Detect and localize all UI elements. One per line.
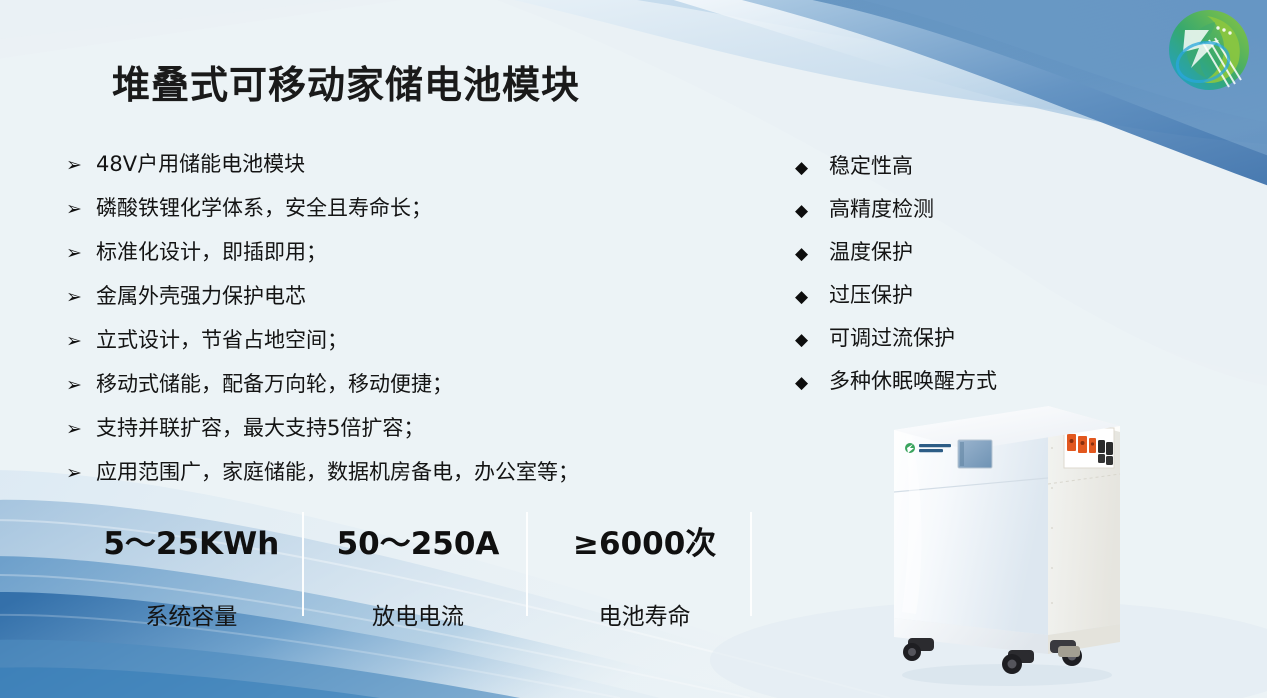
arrow-bullet-icon: ➢ <box>66 464 96 483</box>
list-item: ➢ 磷酸铁锂化学体系，安全且寿命长； <box>66 192 706 236</box>
right-feature-list: ◆ 稳定性高 ◆ 高精度检测 ◆ 温度保护 ◆ 过压保护 ◆ 可调过流保护 ◆ … <box>795 150 1095 408</box>
list-item: ➢ 支持并联扩容，最大支持5倍扩容； <box>66 412 706 456</box>
page-title: 堆叠式可移动家储电池模块 <box>112 54 580 109</box>
list-item-label: 磷酸铁锂化学体系，安全且寿命长； <box>96 192 432 222</box>
diamond-bullet-icon: ◆ <box>795 159 829 176</box>
spec-value: 50〜250A <box>305 518 532 563</box>
list-item-label: 过压保护 <box>829 279 913 309</box>
diamond-bullet-icon: ◆ <box>795 202 829 219</box>
arrow-bullet-icon: ➢ <box>66 420 96 439</box>
list-item: ◆ 过压保护 <box>795 279 1095 322</box>
arrow-bullet-icon: ➢ <box>66 244 96 263</box>
spec-item-current: 50〜250A 放电电流 <box>305 512 532 618</box>
spec-divider <box>302 512 304 616</box>
list-item-label: 高精度检测 <box>829 193 934 223</box>
list-item: ➢ 应用范围广，家庭储能，数据机房备电，办公室等； <box>66 456 706 500</box>
list-item: ➢ 48V户用储能电池模块 <box>66 148 706 192</box>
arrow-bullet-icon: ➢ <box>66 376 96 395</box>
presentation-slide: 堆叠式可移动家储电池模块 ➢ 48V户用储能电池模块 ➢ 磷酸铁锂化学体系，安全… <box>0 0 1267 698</box>
diamond-bullet-icon: ◆ <box>795 331 829 348</box>
spec-label: 系统容量 <box>78 597 305 631</box>
list-item-label: 48V户用储能电池模块 <box>96 148 305 178</box>
list-item-label: 温度保护 <box>829 236 913 266</box>
diamond-bullet-icon: ◆ <box>795 288 829 305</box>
list-item: ◆ 高精度检测 <box>795 193 1095 236</box>
arrow-bullet-icon: ➢ <box>66 288 96 307</box>
list-item: ➢ 金属外壳强力保护电芯 <box>66 280 706 324</box>
list-item: ◆ 稳定性高 <box>795 150 1095 193</box>
list-item-label: 支持并联扩容，最大支持5倍扩容； <box>96 412 424 442</box>
spec-divider <box>750 512 752 616</box>
list-item-label: 立式设计，节省占地空间； <box>96 324 348 354</box>
list-item: ◆ 温度保护 <box>795 236 1095 279</box>
diamond-bullet-icon: ◆ <box>795 245 829 262</box>
list-item: ◆ 可调过流保护 <box>795 322 1095 365</box>
spec-divider <box>526 512 528 616</box>
list-item-label: 金属外壳强力保护电芯 <box>96 280 306 310</box>
spec-value: ≥6000次 <box>531 518 758 563</box>
list-item: ➢ 标准化设计，即插即用； <box>66 236 706 280</box>
spec-item-capacity: 5〜25KWh 系统容量 <box>78 512 305 618</box>
spec-item-cycle-life: ≥6000次 电池寿命 <box>531 512 758 618</box>
list-item-label: 稳定性高 <box>829 150 913 180</box>
list-item: ➢ 立式设计，节省占地空间； <box>66 324 706 368</box>
diamond-bullet-icon: ◆ <box>795 374 829 391</box>
spec-value: 5〜25KWh <box>78 518 305 563</box>
company-logo <box>1163 6 1255 94</box>
spec-label: 放电电流 <box>305 597 532 631</box>
list-item-label: 标准化设计，即插即用； <box>96 236 327 266</box>
list-item: ➢ 移动式储能，配备万向轮，移动便捷； <box>66 368 706 412</box>
arrow-bullet-icon: ➢ <box>66 156 96 175</box>
spec-highlights: 5〜25KWh 系统容量 50〜250A 放电电流 ≥6000次 电池寿命 <box>78 512 758 618</box>
list-item-label: 应用范围广，家庭储能，数据机房备电，办公室等； <box>96 456 579 486</box>
arrow-bullet-icon: ➢ <box>66 332 96 351</box>
left-feature-list: ➢ 48V户用储能电池模块 ➢ 磷酸铁锂化学体系，安全且寿命长； ➢ 标准化设计… <box>66 148 706 500</box>
list-item-label: 移动式储能，配备万向轮，移动便捷； <box>96 368 453 398</box>
list-item-label: 可调过流保护 <box>829 322 955 352</box>
arrow-bullet-icon: ➢ <box>66 200 96 219</box>
battery-cabinet-photo <box>872 388 1132 688</box>
spec-label: 电池寿命 <box>531 597 758 631</box>
